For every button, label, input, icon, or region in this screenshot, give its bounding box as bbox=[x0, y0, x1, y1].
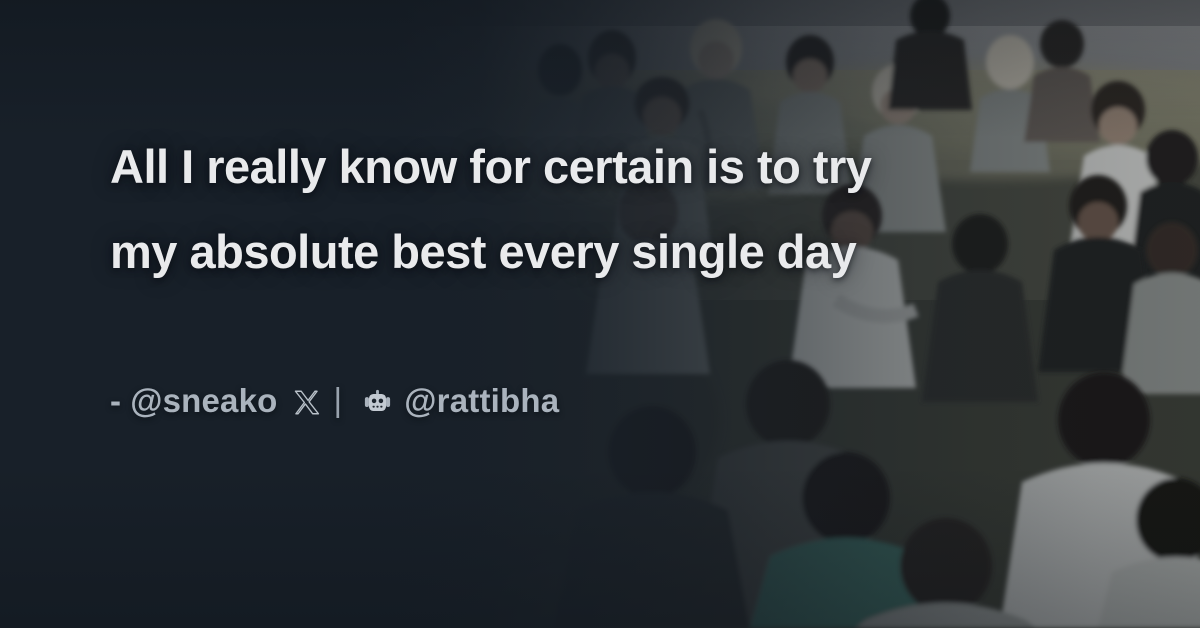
quote-card: All I really know for certain is to try … bbox=[0, 0, 1200, 628]
quote-line-1: All I really know for certain is to try bbox=[110, 124, 1070, 209]
attribution-line: - @sneako | bbox=[110, 382, 1140, 420]
quote-text: All I really know for certain is to try … bbox=[110, 124, 1070, 294]
brand-handle[interactable]: @rattibha bbox=[404, 382, 559, 420]
x-logo-icon[interactable] bbox=[293, 389, 320, 416]
attribution-separator: | bbox=[334, 381, 343, 419]
attribution-dash: - bbox=[110, 382, 121, 420]
robot-icon bbox=[362, 389, 393, 416]
card-content: All I really know for certain is to try … bbox=[0, 0, 1200, 628]
author-handle[interactable]: @sneako bbox=[130, 382, 277, 420]
quote-line-2: my absolute best every single day bbox=[110, 209, 1070, 294]
